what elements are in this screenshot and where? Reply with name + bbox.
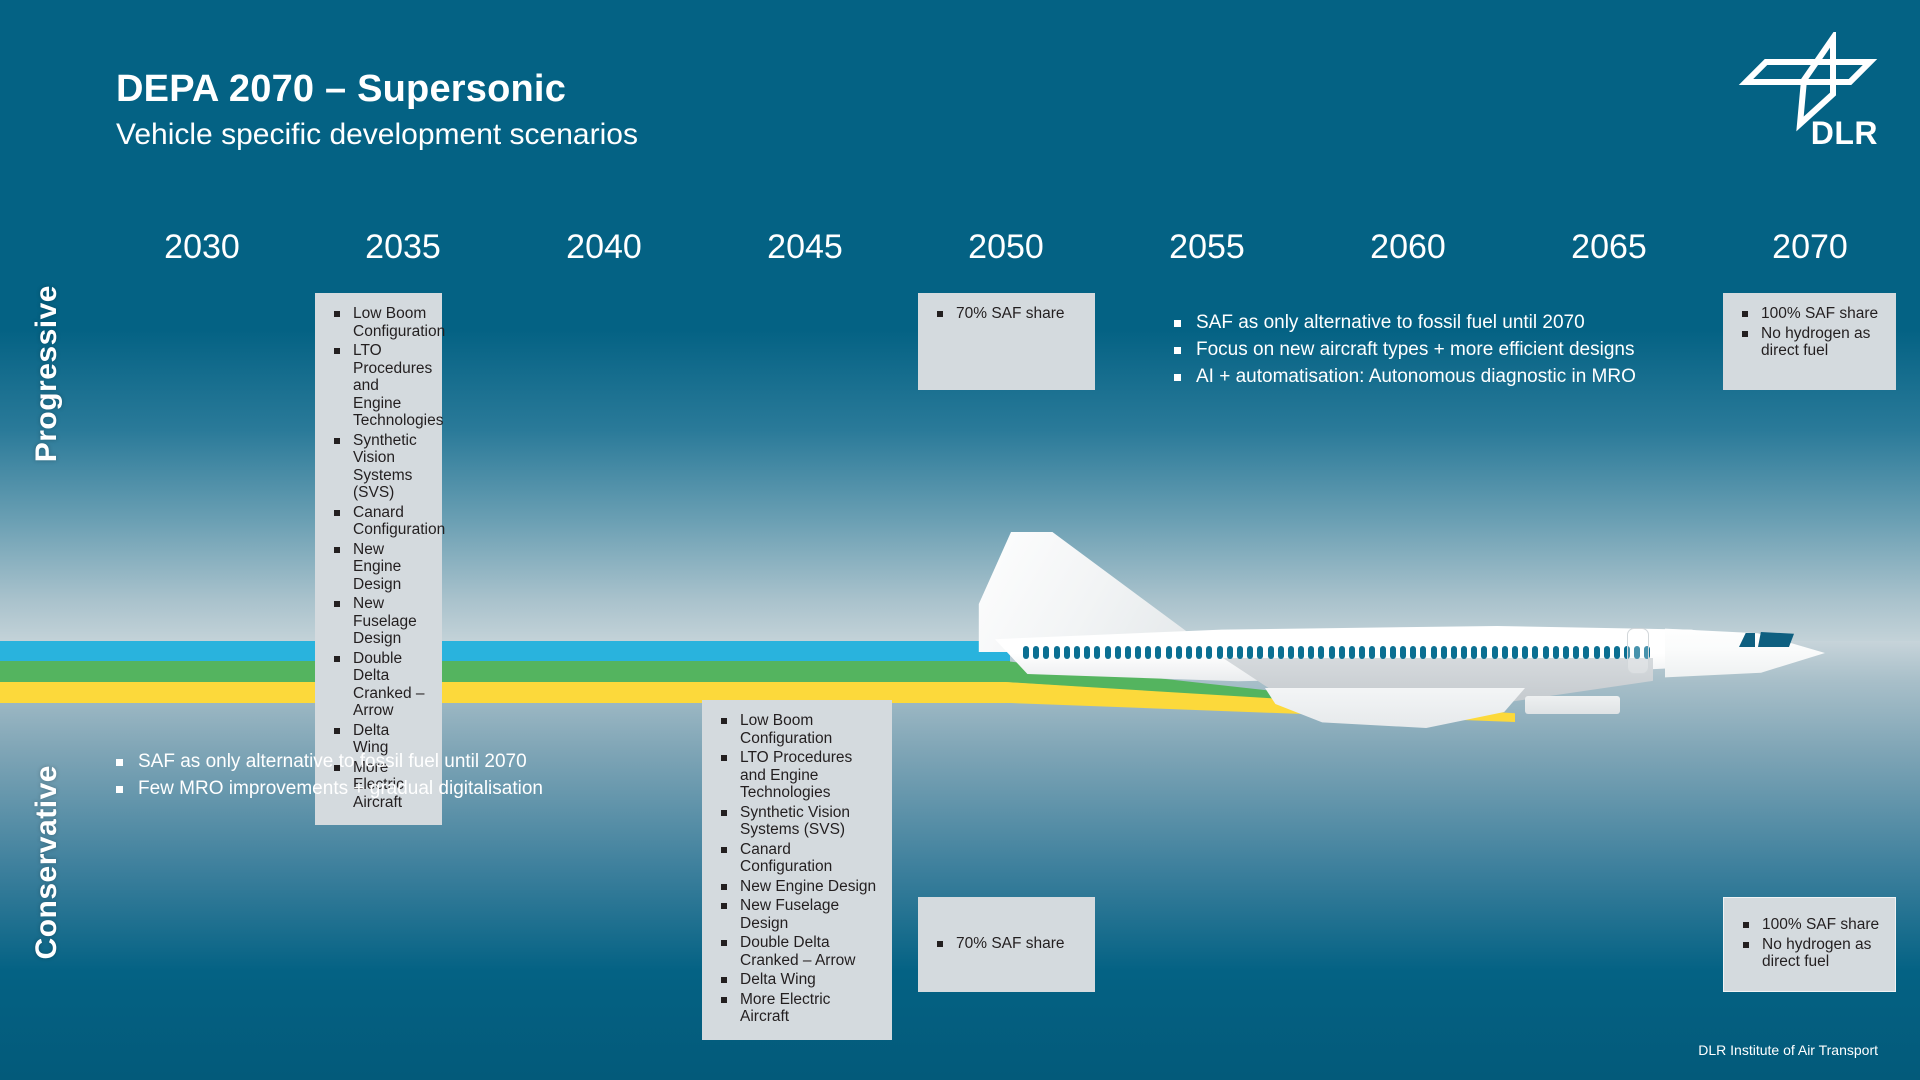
list-item: New Fuselage Design xyxy=(327,595,428,648)
cabin-window xyxy=(1614,646,1620,659)
cabin-window xyxy=(1471,646,1477,659)
progressive-box-2070[interactable]: 100% SAF shareNo hydrogen as direct fuel xyxy=(1723,293,1896,390)
progressive-box-2035[interactable]: Low Boom ConfigurationLTO Procedures and… xyxy=(315,293,442,825)
cabin-window xyxy=(1217,646,1223,659)
cabin-window xyxy=(1145,646,1151,659)
aircraft-engine-pod xyxy=(1525,696,1620,714)
progressive-box-2050-list: 70% SAF share xyxy=(930,305,1081,323)
row-label-progressive: Progressive xyxy=(30,285,64,462)
list-item: 70% SAF share xyxy=(930,935,1065,953)
dlr-logo: DLR xyxy=(1738,32,1878,152)
list-item: Canard Configuration xyxy=(714,841,878,876)
cabin-window xyxy=(1390,646,1396,659)
conservative-box-2070-list: 100% SAF shareNo hydrogen as direct fuel xyxy=(1736,916,1881,973)
cockpit-window-front xyxy=(1758,632,1794,647)
timeline-year-2055: 2055 xyxy=(1169,228,1245,267)
progressive-notes-2055-list: SAF as only alternative to fossil fuel u… xyxy=(1168,310,1636,390)
cabin-window xyxy=(1431,646,1437,659)
row-label-conservative: Conservative xyxy=(30,765,64,959)
conservative-box-2070[interactable]: 100% SAF shareNo hydrogen as direct fuel xyxy=(1723,897,1896,992)
list-item: More Electric Aircraft xyxy=(714,991,878,1026)
conservative-box-2050[interactable]: 70% SAF share xyxy=(918,897,1095,992)
speed-band-green xyxy=(0,661,1010,682)
cabin-window xyxy=(1512,646,1518,659)
list-item: Low Boom Configuration xyxy=(714,712,878,747)
footer-credit: DLR Institute of Air Transport xyxy=(1698,1042,1878,1058)
conservative-box-2050-list: 70% SAF share xyxy=(930,935,1065,955)
cabin-window xyxy=(1115,646,1121,659)
timeline-year-2035: 2035 xyxy=(365,228,441,267)
list-item: Double Delta Cranked – Arrow xyxy=(327,650,428,720)
cabin-window xyxy=(1410,646,1416,659)
cabin-window xyxy=(1054,646,1060,659)
cabin-window xyxy=(1594,646,1600,659)
list-item: No hydrogen as direct fuel xyxy=(1735,325,1882,360)
list-item: 100% SAF share xyxy=(1736,916,1881,934)
list-item: LTO Procedures and Engine Technologies xyxy=(714,749,878,802)
page-title: DEPA 2070 – Supersonic xyxy=(116,68,566,111)
progressive-box-2035-list: Low Boom ConfigurationLTO Procedures and… xyxy=(327,305,428,811)
cabin-window xyxy=(1247,646,1253,659)
cabin-window xyxy=(1074,646,1080,659)
cabin-window xyxy=(1227,646,1233,659)
cabin-window xyxy=(1451,646,1457,659)
list-item: Double Delta Cranked – Arrow xyxy=(714,934,878,969)
slide-canvas: DEPA 2070 – Supersonic Vehicle specific … xyxy=(0,0,1920,1080)
cabin-window xyxy=(1553,646,1559,659)
cabin-window xyxy=(1288,646,1294,659)
cabin-window xyxy=(1298,646,1304,659)
conservative-notes-left: SAF as only alternative to fossil fuel u… xyxy=(110,749,543,803)
timeline-year-2045: 2045 xyxy=(767,228,843,267)
list-item: Few MRO improvements + gradual digitalis… xyxy=(110,776,543,802)
conservative-notes-left-list: SAF as only alternative to fossil fuel u… xyxy=(110,749,543,802)
cabin-window xyxy=(1420,646,1426,659)
list-item: New Engine Design xyxy=(327,541,428,594)
cabin-window xyxy=(1522,646,1528,659)
cabin-window xyxy=(1583,646,1589,659)
cabin-window xyxy=(1125,646,1131,659)
cabin-window xyxy=(1033,646,1039,659)
cabin-window xyxy=(1502,646,1508,659)
dlr-logo-text: DLR xyxy=(1811,115,1878,152)
cabin-window xyxy=(1084,646,1090,659)
cabin-window xyxy=(1155,646,1161,659)
cabin-window xyxy=(1318,646,1324,659)
cabin-window xyxy=(1380,646,1386,659)
list-item: Synthetic Vision Systems (SVS) xyxy=(714,804,878,839)
list-item: 100% SAF share xyxy=(1735,305,1882,323)
cabin-window xyxy=(1481,646,1487,659)
cabin-window xyxy=(1329,646,1335,659)
cabin-window xyxy=(1023,646,1029,659)
progressive-box-2050[interactable]: 70% SAF share xyxy=(918,293,1095,390)
cabin-window xyxy=(1166,646,1172,659)
aircraft-door xyxy=(1627,628,1649,674)
cabin-window xyxy=(1105,646,1111,659)
list-item: Low Boom Configuration xyxy=(327,305,428,340)
progressive-box-2070-list: 100% SAF shareNo hydrogen as direct fuel xyxy=(1735,305,1882,360)
cabin-window xyxy=(1532,646,1538,659)
cabin-window xyxy=(1573,646,1579,659)
page-subtitle: Vehicle specific development scenarios xyxy=(116,118,638,152)
list-item: Delta Wing xyxy=(714,971,878,989)
cabin-window xyxy=(1339,646,1345,659)
list-item: No hydrogen as direct fuel xyxy=(1736,936,1881,971)
progressive-notes-2055: SAF as only alternative to fossil fuel u… xyxy=(1168,310,1636,391)
list-item: Focus on new aircraft types + more effic… xyxy=(1168,337,1636,363)
cabin-window xyxy=(1257,646,1263,659)
cabin-window xyxy=(1308,646,1314,659)
cabin-window xyxy=(1369,646,1375,659)
conservative-box-2045-list: Low Boom ConfigurationLTO Procedures and… xyxy=(714,712,878,1026)
timeline-year-2060: 2060 xyxy=(1370,228,1446,267)
cabin-window xyxy=(1268,646,1274,659)
cabin-window xyxy=(1461,646,1467,659)
cabin-window xyxy=(1400,646,1406,659)
cabin-window xyxy=(1043,646,1049,659)
list-item: AI + automatisation: Autonomous diagnost… xyxy=(1168,364,1636,390)
cabin-window xyxy=(1563,646,1569,659)
speed-band-cyan xyxy=(0,641,1010,661)
timeline-year-2050: 2050 xyxy=(968,228,1044,267)
timeline-year-2030: 2030 xyxy=(164,228,240,267)
aircraft-illustration xyxy=(965,500,1805,715)
list-item: New Fuselage Design xyxy=(714,897,878,932)
cabin-window xyxy=(1543,646,1549,659)
cabin-window xyxy=(1492,646,1498,659)
list-item: 70% SAF share xyxy=(930,305,1081,323)
list-item: Canard Configuration xyxy=(327,504,428,539)
cabin-window xyxy=(1064,646,1070,659)
cabin-window xyxy=(1176,646,1182,659)
cabin-window xyxy=(1135,646,1141,659)
timeline-year-2065: 2065 xyxy=(1571,228,1647,267)
aircraft-cabin-windows xyxy=(1023,646,1723,659)
list-item: Synthetic Vision Systems (SVS) xyxy=(327,432,428,502)
cabin-window xyxy=(1206,646,1212,659)
cabin-window xyxy=(1196,646,1202,659)
timeline-years: 203020352040204520502055206020652070 xyxy=(0,228,1920,278)
cabin-window xyxy=(1359,646,1365,659)
cabin-window xyxy=(1237,646,1243,659)
timeline-year-2070: 2070 xyxy=(1772,228,1848,267)
timeline-year-2040: 2040 xyxy=(566,228,642,267)
list-item: LTO Procedures and Engine Technologies xyxy=(327,342,428,430)
list-item: SAF as only alternative to fossil fuel u… xyxy=(1168,310,1636,336)
cabin-window xyxy=(1094,646,1100,659)
conservative-box-2045[interactable]: Low Boom ConfigurationLTO Procedures and… xyxy=(702,700,892,1040)
cabin-window xyxy=(1278,646,1284,659)
list-item: SAF as only alternative to fossil fuel u… xyxy=(110,749,543,775)
cabin-window xyxy=(1186,646,1192,659)
cabin-window xyxy=(1604,646,1610,659)
cabin-window xyxy=(1441,646,1447,659)
cabin-window xyxy=(1349,646,1355,659)
list-item: New Engine Design xyxy=(714,878,878,896)
